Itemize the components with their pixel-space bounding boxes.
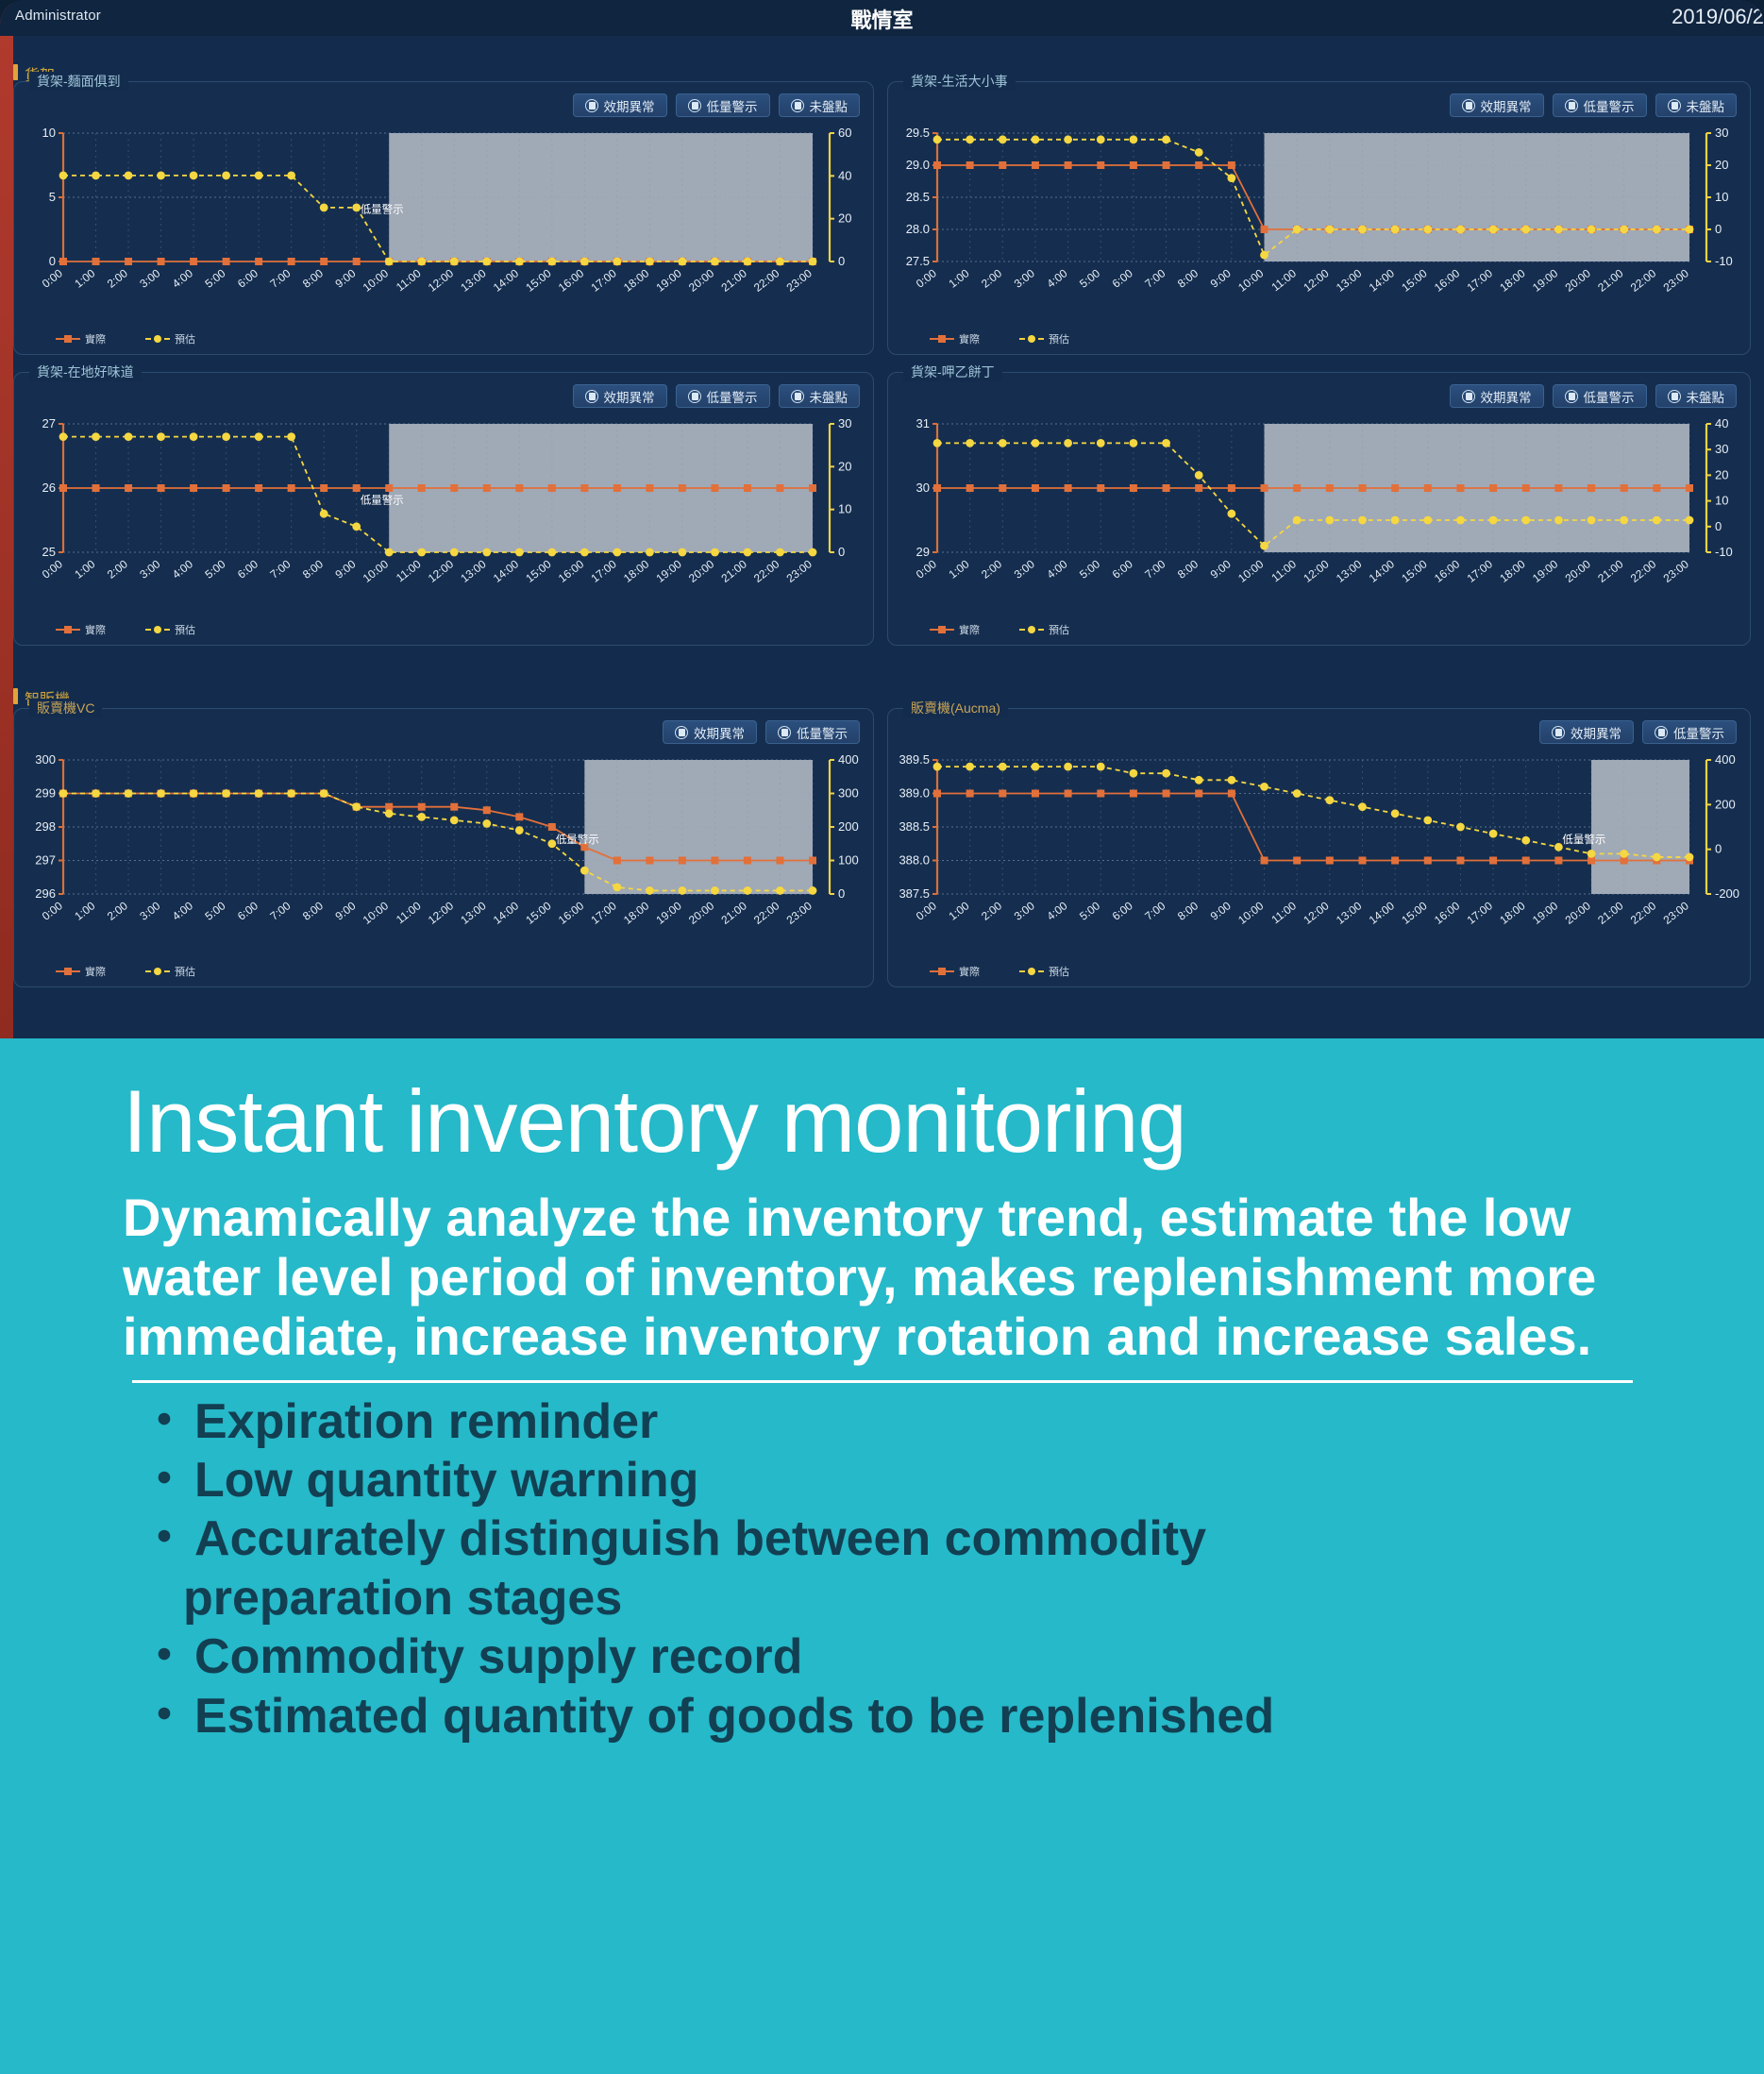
legend-item-actual[interactable]: 實際 [56, 331, 106, 346]
not-counted-button[interactable]: 未盤點 [779, 93, 861, 117]
svg-text:10:00: 10:00 [361, 557, 392, 585]
svg-text:20:00: 20:00 [1563, 557, 1594, 585]
svg-text:22:00: 22:00 [1628, 899, 1659, 927]
svg-text:389.0: 389.0 [899, 786, 930, 801]
legend-swatch-estimated [145, 338, 170, 340]
svg-text:4:00: 4:00 [1044, 266, 1069, 291]
svg-text:1:00: 1:00 [72, 557, 97, 582]
low-quantity-button[interactable]: 低量警示 [1553, 384, 1647, 408]
list-item: ・Low quantity warning [140, 1451, 1707, 1509]
svg-text:13:00: 13:00 [458, 557, 489, 585]
button-label: 未盤點 [1687, 387, 1725, 406]
svg-text:30: 30 [838, 416, 851, 430]
button-label: 效期異常 [1571, 723, 1621, 742]
svg-text:3:00: 3:00 [137, 899, 162, 923]
svg-text:20:00: 20:00 [1563, 899, 1594, 927]
svg-text:5:00: 5:00 [202, 557, 227, 582]
svg-text:25: 25 [42, 545, 56, 559]
svg-text:19:00: 19:00 [1530, 899, 1561, 927]
svg-text:8:00: 8:00 [1175, 899, 1201, 923]
svg-text:22:00: 22:00 [751, 899, 782, 927]
bell-icon [688, 99, 701, 112]
svg-text:0:00: 0:00 [40, 557, 65, 582]
svg-text:2:00: 2:00 [979, 899, 1004, 923]
bullet-icon: ・ [140, 1511, 189, 1566]
calendar-icon [1462, 99, 1475, 112]
svg-text:10:00: 10:00 [1235, 899, 1267, 927]
calendar-icon [585, 99, 598, 112]
svg-text:13:00: 13:00 [458, 899, 489, 927]
svg-text:18:00: 18:00 [1497, 266, 1528, 295]
svg-text:3:00: 3:00 [1012, 557, 1037, 582]
svg-text:20: 20 [838, 459, 851, 473]
svg-text:2:00: 2:00 [105, 266, 130, 291]
legend-label-estimated: 預估 [1049, 622, 1069, 637]
svg-text:0: 0 [838, 254, 845, 268]
svg-text:388.5: 388.5 [899, 819, 930, 834]
svg-text:16:00: 16:00 [556, 899, 587, 927]
legend-label-estimated: 預估 [175, 964, 195, 979]
legend-swatch-actual [930, 970, 954, 972]
svg-text:6:00: 6:00 [235, 899, 260, 923]
svg-text:19:00: 19:00 [1530, 557, 1561, 585]
svg-text:22:00: 22:00 [1628, 266, 1659, 295]
svg-text:8:00: 8:00 [1175, 266, 1201, 291]
panel-title: 貨架-在地好味道 [29, 363, 142, 381]
svg-text:21:00: 21:00 [1595, 899, 1626, 927]
svg-text:5:00: 5:00 [202, 266, 227, 291]
svg-text:23:00: 23:00 [1661, 557, 1692, 585]
promo-block: Instant inventory monitoring Dynamically… [0, 1038, 1764, 2074]
svg-text:19:00: 19:00 [653, 899, 684, 927]
list-item-label: Estimated quantity of goods to be replen… [194, 1689, 1274, 1744]
expiry-alert-button[interactable]: 效期異常 [1450, 93, 1544, 117]
svg-text:7:00: 7:00 [267, 557, 293, 582]
low-quantity-button[interactable]: 低量警示 [765, 720, 860, 744]
svg-text:2:00: 2:00 [105, 899, 130, 923]
legend-item-actual[interactable]: 實際 [56, 622, 106, 637]
svg-text:23:00: 23:00 [784, 557, 815, 585]
svg-text:0:00: 0:00 [914, 899, 939, 923]
button-label: 未盤點 [810, 387, 848, 406]
svg-text:18:00: 18:00 [621, 557, 652, 585]
chart-svg: 27.528.028.529.029.5-1001020300:001:002:… [888, 124, 1744, 307]
svg-text:13:00: 13:00 [458, 266, 489, 295]
svg-text:23:00: 23:00 [784, 266, 815, 295]
expiry-alert-button[interactable]: 效期異常 [1539, 720, 1634, 744]
legend-swatch-estimated [1019, 338, 1044, 340]
legend-label-actual: 實際 [959, 622, 980, 637]
svg-text:296: 296 [35, 886, 56, 901]
svg-text:1:00: 1:00 [946, 266, 971, 291]
svg-text:16:00: 16:00 [556, 266, 587, 295]
svg-text:9:00: 9:00 [333, 266, 359, 291]
chart-area: 29629729829930001002003004000:001:002:00… [14, 750, 875, 939]
svg-text:299: 299 [35, 786, 56, 801]
svg-text:10: 10 [838, 502, 851, 516]
svg-text:21:00: 21:00 [719, 557, 750, 585]
list-item-label: Commodity supply record [194, 1629, 802, 1684]
svg-text:17:00: 17:00 [1465, 557, 1496, 585]
svg-text:31: 31 [916, 416, 930, 430]
panel-action-buttons: 效期異常低量警示未盤點 [573, 93, 861, 117]
svg-text:11:00: 11:00 [1268, 266, 1299, 294]
svg-text:14:00: 14:00 [491, 557, 522, 585]
list-item-label: Low quantity warning [194, 1453, 698, 1508]
svg-text:3:00: 3:00 [1012, 266, 1037, 291]
button-label: 低量警示 [797, 723, 848, 742]
svg-text:15:00: 15:00 [1399, 557, 1430, 585]
svg-text:5:00: 5:00 [1077, 557, 1102, 582]
svg-text:22:00: 22:00 [751, 557, 782, 585]
svg-text:0: 0 [49, 254, 56, 268]
legend-label-actual: 實際 [85, 964, 106, 979]
svg-text:6:00: 6:00 [1110, 557, 1135, 582]
chart-svg: 25262701020300:001:002:003:004:005:006:0… [14, 414, 867, 598]
svg-text:15:00: 15:00 [523, 266, 554, 295]
svg-text:18:00: 18:00 [1497, 557, 1528, 585]
svg-text:1:00: 1:00 [72, 899, 97, 923]
screenshot-root: Administrator 戰情室 2019/06/2 貨架 智販機 貨架-麵面… [0, 0, 1764, 2074]
svg-text:0:00: 0:00 [40, 899, 65, 923]
bullet-icon: ・ [140, 1689, 189, 1744]
svg-text:29.0: 29.0 [906, 158, 930, 172]
svg-text:200: 200 [838, 819, 859, 834]
current-date-label: 2019/06/2 [1672, 5, 1764, 29]
svg-text:30: 30 [1715, 442, 1728, 456]
button-label: 效期異常 [694, 723, 745, 742]
series-legend: 實際預估 [56, 331, 195, 346]
svg-text:6:00: 6:00 [1110, 899, 1135, 923]
svg-text:19:00: 19:00 [1530, 266, 1561, 295]
svg-text:7:00: 7:00 [267, 899, 293, 923]
legend-item-estimated[interactable]: 預估 [1019, 331, 1069, 346]
svg-text:15:00: 15:00 [1399, 266, 1430, 295]
legend-item-estimated[interactable]: 預估 [1019, 622, 1069, 637]
legend-label-actual: 實際 [959, 964, 980, 979]
svg-text:10:00: 10:00 [361, 899, 392, 927]
svg-text:20:00: 20:00 [686, 266, 717, 295]
svg-text:12:00: 12:00 [1301, 899, 1332, 927]
button-label: 低量警示 [1673, 723, 1724, 742]
legend-swatch-actual [930, 338, 954, 340]
button-label: 未盤點 [810, 96, 848, 115]
series-legend: 實際預估 [930, 622, 1069, 637]
svg-text:12:00: 12:00 [1301, 266, 1332, 295]
svg-text:19:00: 19:00 [653, 266, 684, 295]
not-counted-button[interactable]: 未盤點 [1655, 384, 1738, 408]
svg-text:0:00: 0:00 [914, 557, 939, 582]
legend-item-estimated[interactable]: 預估 [145, 331, 195, 346]
svg-text:1:00: 1:00 [946, 557, 971, 582]
svg-text:389.5: 389.5 [899, 752, 930, 767]
svg-text:22:00: 22:00 [1628, 557, 1659, 585]
svg-text:-200: -200 [1715, 886, 1739, 901]
legend-item-estimated[interactable]: 預估 [145, 964, 195, 979]
svg-text:0: 0 [838, 545, 845, 559]
chart-area: 387.5388.0388.5389.0389.5-20002004000:00… [888, 750, 1752, 939]
panel-action-buttons: 效期異常低量警示 [1539, 720, 1737, 744]
chart-area: 27.528.028.529.029.5-1001020300:001:002:… [888, 124, 1752, 307]
svg-text:15:00: 15:00 [523, 557, 554, 585]
expiry-alert-button[interactable]: 效期異常 [573, 384, 667, 408]
svg-text:7:00: 7:00 [267, 266, 293, 291]
svg-text:5:00: 5:00 [1077, 266, 1102, 291]
svg-text:17:00: 17:00 [588, 899, 619, 927]
not-counted-button[interactable]: 未盤點 [779, 384, 861, 408]
bell-icon [1565, 99, 1578, 112]
low-quantity-button[interactable]: 低量警示 [1642, 720, 1737, 744]
legend-item-estimated[interactable]: 預估 [145, 622, 195, 637]
promo-bullet-list: ・Expiration reminder ・Low quantity warni… [140, 1392, 1707, 1745]
legend-item-actual[interactable]: 實際 [930, 331, 980, 346]
svg-text:0:00: 0:00 [40, 266, 65, 291]
group-accent-vending [13, 688, 18, 704]
svg-text:11:00: 11:00 [394, 557, 424, 584]
clipboard-icon [1668, 390, 1681, 403]
dashboard-region: Administrator 戰情室 2019/06/2 貨架 智販機 貨架-麵面… [0, 0, 1764, 1038]
svg-text:9:00: 9:00 [1208, 557, 1234, 582]
svg-text:23:00: 23:00 [1661, 266, 1692, 295]
legend-swatch-estimated [1019, 629, 1044, 631]
svg-text:21:00: 21:00 [1595, 557, 1626, 585]
svg-text:7:00: 7:00 [1142, 899, 1168, 923]
svg-text:11:00: 11:00 [1268, 557, 1299, 584]
not-counted-button[interactable]: 未盤點 [1655, 93, 1738, 117]
svg-text:300: 300 [35, 752, 56, 767]
calendar-icon [675, 726, 688, 739]
svg-text:11:00: 11:00 [1268, 899, 1299, 926]
legend-label-actual: 實際 [85, 331, 106, 346]
legend-label-estimated: 預估 [1049, 964, 1069, 979]
svg-text:400: 400 [838, 752, 859, 767]
svg-text:5:00: 5:00 [1077, 899, 1102, 923]
svg-text:10:00: 10:00 [1235, 266, 1267, 295]
bell-icon [688, 390, 701, 403]
series-legend: 實際預估 [930, 964, 1069, 979]
svg-text:14:00: 14:00 [1367, 899, 1398, 927]
button-label: 低量警示 [707, 387, 758, 406]
svg-text:低量警示: 低量警示 [361, 202, 404, 215]
svg-text:9:00: 9:00 [333, 899, 359, 923]
svg-text:12:00: 12:00 [426, 899, 457, 927]
svg-text:0: 0 [1715, 222, 1722, 236]
svg-text:2:00: 2:00 [105, 557, 130, 582]
button-label: 低量警示 [1584, 96, 1635, 115]
legend-swatch-estimated [145, 970, 170, 972]
svg-text:0:00: 0:00 [914, 266, 939, 291]
bell-icon [778, 726, 791, 739]
svg-text:0: 0 [1715, 519, 1722, 533]
svg-text:19:00: 19:00 [653, 557, 684, 585]
chart-area: 293031-100102030400:001:002:003:004:005:… [888, 414, 1752, 598]
bell-icon [1655, 726, 1668, 739]
clipboard-icon [1668, 99, 1681, 112]
svg-text:100: 100 [838, 853, 859, 868]
svg-text:16:00: 16:00 [556, 557, 587, 585]
chart-panel: 貨架-生活大小事效期異常低量警示未盤點27.528.028.529.029.5-… [887, 81, 1751, 355]
svg-text:4:00: 4:00 [170, 899, 195, 923]
svg-text:5: 5 [49, 190, 56, 204]
bell-icon [1565, 390, 1578, 403]
svg-text:13:00: 13:00 [1334, 266, 1365, 295]
svg-text:8:00: 8:00 [300, 266, 326, 291]
svg-text:300: 300 [838, 786, 859, 801]
svg-text:8:00: 8:00 [1175, 557, 1201, 582]
button-label: 效期異常 [604, 387, 655, 406]
svg-text:7:00: 7:00 [1142, 266, 1168, 291]
panel-title: 販賣機(Aucma) [903, 699, 1008, 717]
list-item: ・Commodity supply record [140, 1627, 1707, 1686]
svg-text:17:00: 17:00 [1465, 899, 1496, 927]
expiry-alert-button[interactable]: 效期異常 [573, 93, 667, 117]
low-quantity-button[interactable]: 低量警示 [1553, 93, 1647, 117]
svg-text:11:00: 11:00 [394, 899, 424, 926]
svg-text:4:00: 4:00 [1044, 557, 1069, 582]
panel-title: 貨架-麵面俱到 [29, 72, 128, 91]
bullet-icon: ・ [140, 1394, 189, 1449]
panel-title: 貨架-呷乙餅丁 [903, 363, 1002, 381]
svg-text:3:00: 3:00 [1012, 899, 1037, 923]
button-label: 效期異常 [1481, 387, 1532, 406]
svg-text:21:00: 21:00 [1595, 266, 1626, 295]
svg-text:10:00: 10:00 [1235, 557, 1267, 585]
svg-text:20: 20 [838, 211, 851, 226]
svg-text:27.5: 27.5 [906, 254, 930, 268]
svg-text:11:00: 11:00 [394, 266, 424, 294]
svg-text:26: 26 [42, 481, 56, 495]
expiry-alert-button[interactable]: 效期異常 [663, 720, 757, 744]
svg-text:8:00: 8:00 [300, 899, 326, 923]
svg-text:14:00: 14:00 [491, 266, 522, 295]
svg-text:14:00: 14:00 [491, 899, 522, 927]
list-item: ・Accurately distinguish between commodit… [140, 1509, 1707, 1627]
button-label: 未盤點 [1687, 96, 1725, 115]
svg-text:6:00: 6:00 [1110, 266, 1135, 291]
legend-item-actual[interactable]: 實際 [930, 622, 980, 637]
chart-svg: 387.5388.0388.5389.0389.5-20002004000:00… [888, 750, 1744, 939]
svg-text:20:00: 20:00 [686, 557, 717, 585]
chart-area: 051002040600:001:002:003:004:005:006:007… [14, 124, 875, 307]
group-accent-shelf [13, 64, 18, 80]
svg-text:3:00: 3:00 [137, 266, 162, 291]
svg-text:低量警示: 低量警示 [556, 833, 599, 846]
clipboard-icon [791, 99, 804, 112]
svg-text:15:00: 15:00 [523, 899, 554, 927]
legend-swatch-actual [56, 970, 80, 972]
legend-item-estimated[interactable]: 預估 [1019, 964, 1069, 979]
svg-text:6:00: 6:00 [235, 557, 260, 582]
svg-text:16:00: 16:00 [1432, 266, 1463, 295]
svg-text:13:00: 13:00 [1334, 899, 1365, 927]
list-item: ・Expiration reminder [140, 1392, 1707, 1451]
legend-swatch-actual [56, 629, 80, 631]
low-quantity-button[interactable]: 低量警示 [676, 93, 770, 117]
svg-text:15:00: 15:00 [1399, 899, 1430, 927]
svg-text:387.5: 387.5 [899, 886, 930, 901]
panel-action-buttons: 效期異常低量警示未盤點 [1450, 93, 1738, 117]
svg-text:14:00: 14:00 [1367, 266, 1398, 295]
calendar-icon [1462, 390, 1475, 403]
svg-text:20: 20 [1715, 158, 1728, 172]
svg-text:18:00: 18:00 [1497, 899, 1528, 927]
svg-text:12:00: 12:00 [426, 557, 457, 585]
svg-text:6:00: 6:00 [235, 266, 260, 291]
chart-panel: 貨架-在地好味道效期異常低量警示未盤點25262701020300:001:00… [13, 372, 874, 646]
svg-text:40: 40 [838, 168, 851, 182]
chart-panel: 販賣機VC效期異常低量警示296297298299300010020030040… [13, 708, 874, 987]
svg-text:20: 20 [1715, 467, 1728, 481]
svg-text:4:00: 4:00 [1044, 899, 1069, 923]
svg-text:4:00: 4:00 [170, 557, 195, 582]
svg-text:200: 200 [1715, 797, 1736, 811]
svg-text:13:00: 13:00 [1334, 557, 1365, 585]
svg-text:388.0: 388.0 [899, 853, 930, 868]
clipboard-icon [791, 390, 804, 403]
svg-text:2:00: 2:00 [979, 266, 1004, 291]
svg-text:0: 0 [838, 886, 845, 901]
low-quantity-button[interactable]: 低量警示 [676, 384, 770, 408]
svg-text:400: 400 [1715, 752, 1736, 767]
svg-text:17:00: 17:00 [1465, 266, 1496, 295]
svg-text:5:00: 5:00 [202, 899, 227, 923]
svg-text:20:00: 20:00 [686, 899, 717, 927]
legend-label-estimated: 預估 [175, 622, 195, 637]
svg-text:30: 30 [916, 481, 930, 495]
chart-panel: 貨架-呷乙餅丁效期異常低量警示未盤點293031-100102030400:00… [887, 372, 1751, 646]
svg-text:17:00: 17:00 [588, 557, 619, 585]
legend-swatch-actual [56, 338, 80, 340]
svg-text:10: 10 [1715, 494, 1728, 508]
svg-text:23:00: 23:00 [784, 899, 815, 927]
svg-text:22:00: 22:00 [751, 266, 782, 295]
series-legend: 實際預估 [930, 331, 1069, 346]
button-label: 效期異常 [604, 96, 655, 115]
svg-text:21:00: 21:00 [719, 899, 750, 927]
svg-text:14:00: 14:00 [1367, 557, 1398, 585]
svg-text:27: 27 [42, 416, 56, 430]
legend-swatch-estimated [145, 629, 170, 631]
svg-text:1:00: 1:00 [946, 899, 971, 923]
expiry-alert-button[interactable]: 效期異常 [1450, 384, 1544, 408]
svg-text:10: 10 [1715, 190, 1728, 204]
svg-text:18:00: 18:00 [621, 899, 652, 927]
calendar-icon [1552, 726, 1565, 739]
svg-text:4:00: 4:00 [170, 266, 195, 291]
legend-item-actual[interactable]: 實際 [56, 964, 106, 979]
promo-body: Dynamically analyze the inventory trend,… [123, 1188, 1633, 1367]
panel-action-buttons: 效期異常低量警示未盤點 [573, 384, 861, 408]
legend-label-actual: 實際 [85, 622, 106, 637]
svg-text:10: 10 [42, 126, 56, 140]
calendar-icon [585, 390, 598, 403]
svg-text:8:00: 8:00 [300, 557, 326, 582]
page-title: 戰情室 [0, 4, 1764, 34]
svg-text:40: 40 [1715, 416, 1728, 430]
svg-text:60: 60 [838, 126, 851, 140]
svg-text:1:00: 1:00 [72, 266, 97, 291]
svg-text:3:00: 3:00 [137, 557, 162, 582]
button-label: 低量警示 [1584, 387, 1635, 406]
panel-title: 貨架-生活大小事 [903, 72, 1016, 91]
left-accent-bar [0, 0, 13, 1038]
legend-label-estimated: 預估 [1049, 331, 1069, 346]
chart-svg: 051002040600:001:002:003:004:005:006:007… [14, 124, 867, 307]
svg-text:7:00: 7:00 [1142, 557, 1168, 582]
panel-title: 販賣機VC [29, 699, 102, 717]
button-label: 效期異常 [1481, 96, 1532, 115]
legend-item-actual[interactable]: 實際 [930, 964, 980, 979]
